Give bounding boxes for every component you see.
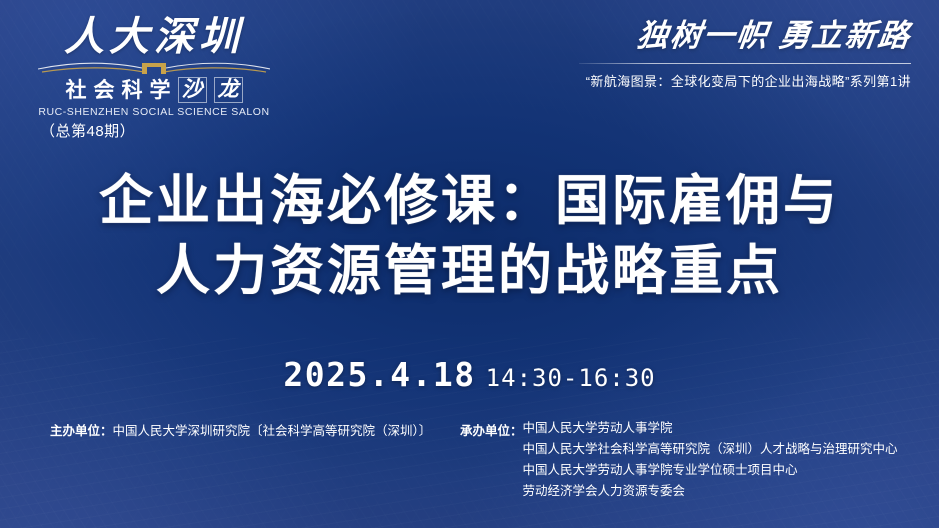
issue-number: （总第48期） <box>40 120 135 141</box>
calligraphy-motto: 独树一帜 勇立新路 <box>509 16 914 56</box>
logo-sub-char-1: 社 <box>66 78 87 103</box>
coorganizer-label: 承办单位： <box>460 420 523 439</box>
footer: 主办单位：中国人民大学深圳研究院〔社会科学高等研究院（深圳）〕 承办单位： 中国… <box>0 414 939 514</box>
salon-logo: 人大深圳 社 会 科 学 沙 龙 <box>38 14 270 118</box>
event-poster: 人大深圳 社 会 科 学 沙 龙 <box>0 0 939 528</box>
logo-bridge-graphic <box>38 60 270 76</box>
title-line-2: 人力资源管理的战略重点 <box>0 240 939 302</box>
event-time: 14:30-16:30 <box>486 364 656 392</box>
coorganizer-item: 中国人民大学劳动人事学院 <box>523 420 898 436</box>
host-organizer-label: 主办单位： <box>50 424 113 438</box>
logo-sub-char-3: 科 <box>122 78 143 103</box>
coorganizers: 承办单位： 中国人民大学劳动人事学院 中国人民大学社会科学高等研究院（深圳）人才… <box>460 420 898 499</box>
title-line-1: 企业出海必修课：国际雇佣与 <box>0 170 939 232</box>
series-divider <box>579 63 911 64</box>
coorganizer-item: 中国人民大学劳动人事学院专业学位硕士项目中心 <box>523 462 898 478</box>
coorganizer-list: 中国人民大学劳动人事学院 中国人民大学社会科学高等研究院（深圳）人才战略与治理研… <box>523 420 898 499</box>
logo-name-cn: 人大深圳 <box>38 14 270 60</box>
logo-subtitle-row: 社 会 科 学 沙 龙 <box>38 77 270 103</box>
page-title: 企业出海必修课：国际雇佣与 人力资源管理的战略重点 <box>0 170 939 302</box>
event-date: 2025.4.18 <box>283 355 475 394</box>
host-organizer: 主办单位：中国人民大学深圳研究院〔社会科学高等研究院（深圳）〕 <box>50 420 431 439</box>
coorganizer-item: 劳动经济学会人力资源专委会 <box>523 483 898 499</box>
series-label: “新航海图景：全球化变局下的企业出海战略”系列第1讲 <box>511 71 911 90</box>
event-datetime: 2025.4.1814:30-16:30 <box>0 355 939 394</box>
logo-sub-boxed-char-1: 沙 <box>178 77 207 103</box>
coorganizer-item: 中国人民大学社会科学高等研究院（深圳）人才战略与治理研究中心 <box>523 441 898 457</box>
logo-sub-boxed-char-2: 龙 <box>214 77 243 103</box>
logo-name-row: 人大深圳 <box>38 14 270 62</box>
host-organizer-value: 中国人民大学深圳研究院〔社会科学高等研究院（深圳）〕 <box>113 424 432 438</box>
logo-name-en: RUC-SHENZHEN SOCIAL SCIENCE SALON <box>38 106 270 118</box>
series-block: 独树一帜 勇立新路 “新航海图景：全球化变局下的企业出海战略”系列第1讲 <box>511 16 911 90</box>
poster-content: 人大深圳 社 会 科 学 沙 龙 <box>0 0 939 528</box>
logo-sub-char-2: 会 <box>94 78 115 103</box>
logo-sub-char-4: 学 <box>150 78 171 103</box>
